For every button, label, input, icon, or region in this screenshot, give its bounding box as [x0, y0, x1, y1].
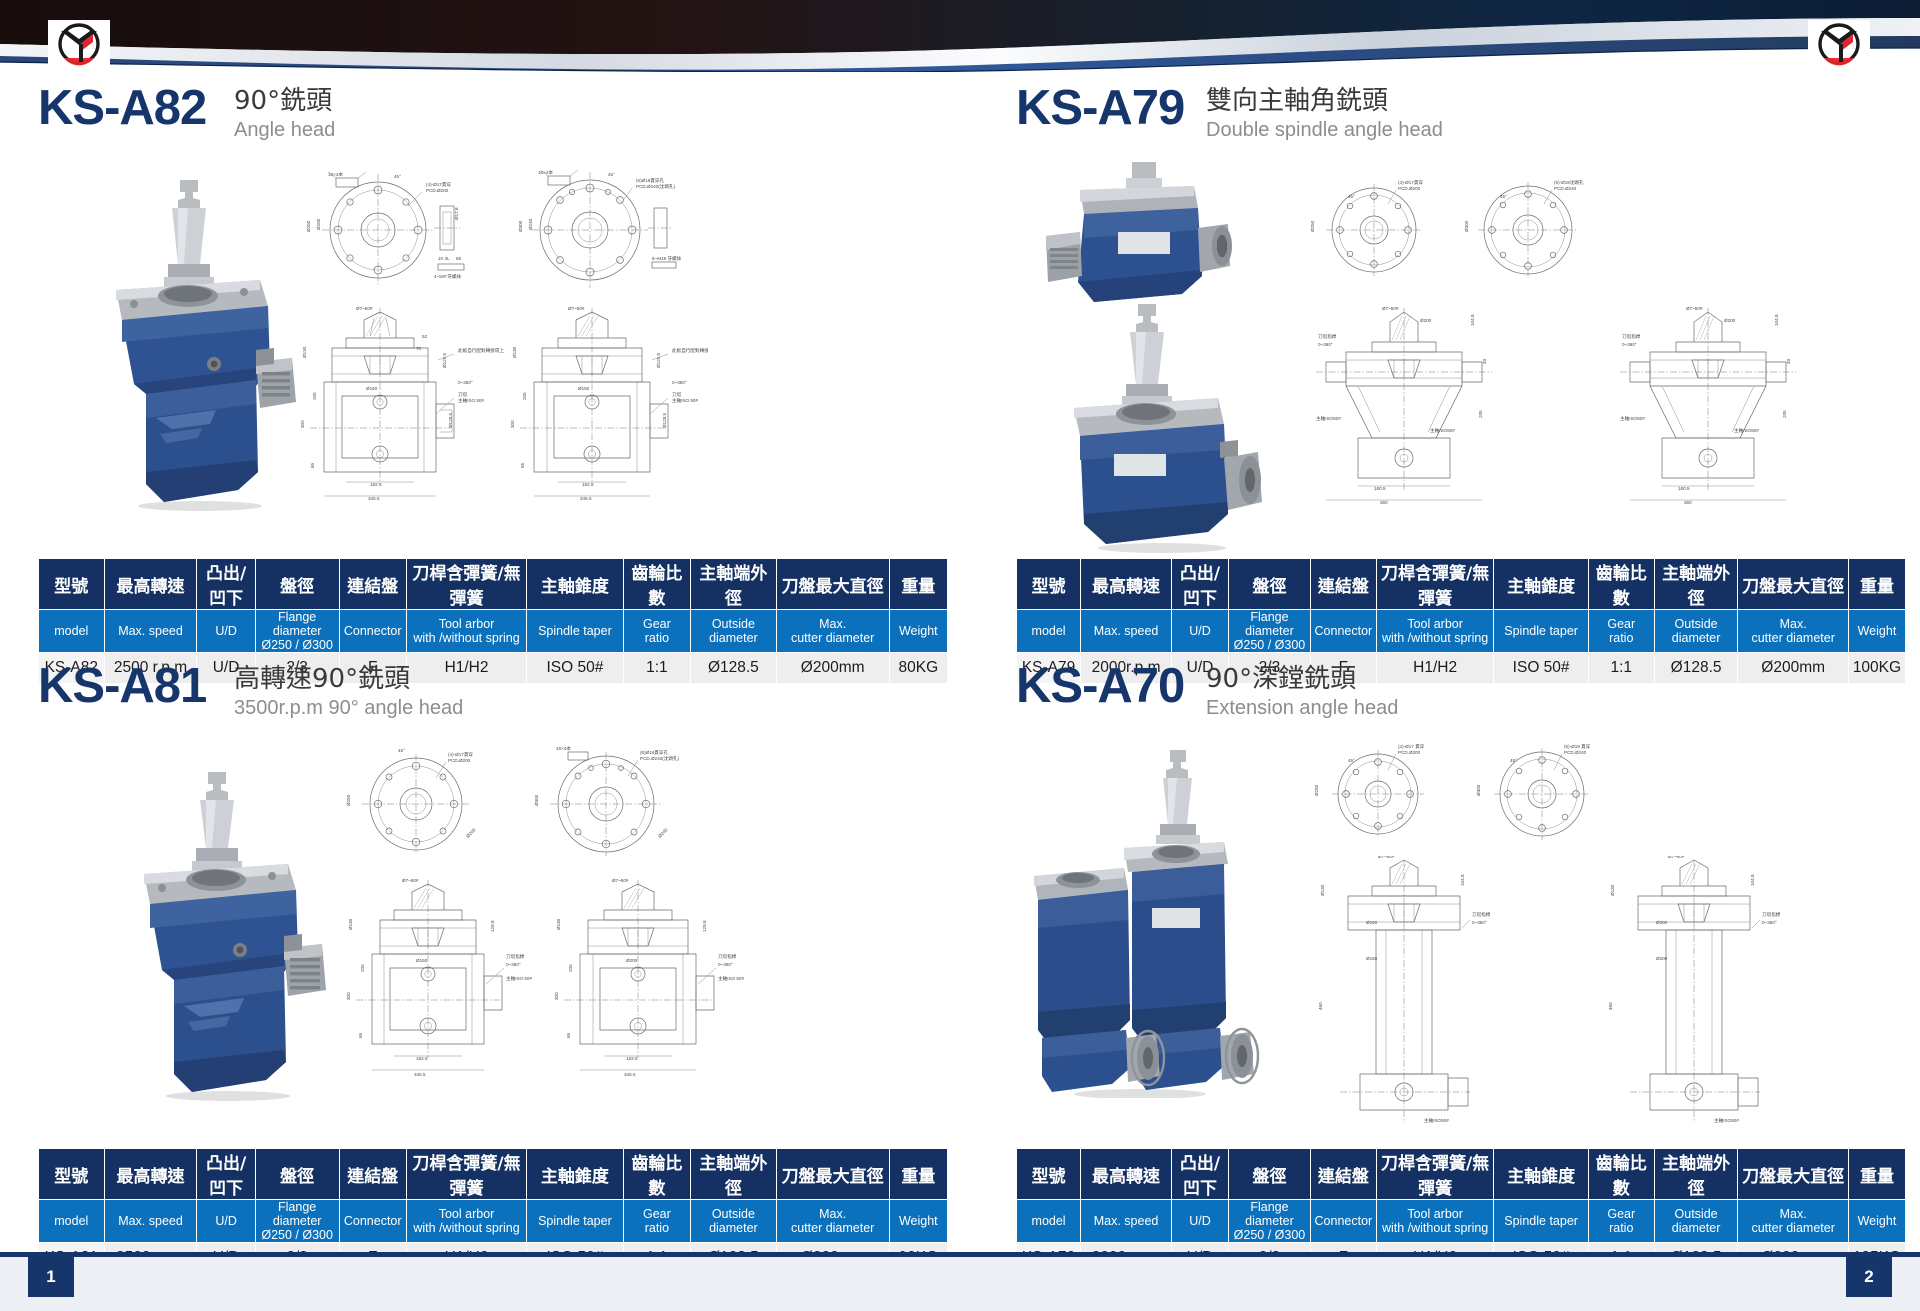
th-cn-ud: 凸出/凹下: [197, 559, 255, 610]
svg-text:104.8: 104.8: [1460, 874, 1465, 886]
svg-text:Ø130: Ø130: [1610, 884, 1615, 896]
th-en-model: model: [39, 610, 105, 653]
table-header-row-cn: 型號 最高轉速 凸出/凹下 盤徑 連結盤 刀桿含彈簧/無彈簧 主軸錐度 齒輪比數…: [39, 1149, 948, 1200]
th-cn-spindle-taper: 主軸錐度: [1494, 1149, 1588, 1200]
svg-text:Ø200: Ø200: [1656, 920, 1668, 925]
svg-text:主軸ISO50#: 主軸ISO50#: [1316, 415, 1341, 422]
product-block-ks-a82: KS-A82 90°銑頭 Angle head: [38, 82, 948, 642]
th-en-model: model: [1017, 1200, 1081, 1243]
svg-text:345.5: 345.5: [414, 1072, 426, 1077]
svg-text:Ø7~50#: Ø7~50#: [612, 878, 629, 883]
table-header-row-cn: 型號 最高轉速 凸出/凹下 盤徑 連結盤 刀桿含彈簧/無彈簧 主軸錐度 齒輪比數…: [39, 559, 948, 610]
svg-text:205: 205: [568, 964, 573, 972]
product-title-ks-a81: KS-A81 高轉速90°銑頭 3500r.p.m 90° angle head: [38, 660, 948, 732]
svg-text:4~5/8"牙螺絲: 4~5/8"牙螺絲: [434, 273, 461, 280]
svg-text:Ø130: Ø130: [1320, 884, 1325, 896]
svg-text:Ø300: Ø300: [1476, 784, 1481, 796]
th-cn-max-cutter: 刀盤最大直徑: [776, 1149, 889, 1200]
svg-text:Ø240: Ø240: [528, 218, 533, 230]
th-cn-spindle-taper: 主軸錐度: [527, 559, 624, 610]
th-cn-weight: 重量: [1848, 559, 1905, 610]
th-cn-flange: 盤徑: [255, 559, 339, 610]
technical-drawing-front-views: 45° (4)-Ø17貫穿 PCD.Ø200 Ø250 Ø200: [334, 740, 714, 872]
product-visuals-ks-a70: (4)-Ø17 貫穿 PCD.Ø200 Ø250 45°: [1016, 732, 1906, 1127]
table-header-row-en: model Max. speed U/D Flange diameterØ250…: [1017, 1200, 1906, 1243]
svg-text:104.8: 104.8: [1750, 874, 1755, 886]
svg-text:Ø150: Ø150: [416, 958, 428, 963]
th-cn-flange: 盤徑: [1228, 1149, 1310, 1200]
svg-text:(6)Ø19貫穿孔: (6)Ø19貫穿孔: [636, 177, 664, 184]
svg-text:Ø200: Ø200: [316, 218, 321, 230]
product-block-ks-a81: KS-A81 高轉速90°銑頭 3500r.p.m 90° angle head: [38, 660, 948, 1230]
svg-text:45°: 45°: [1348, 194, 1355, 199]
th-cn-connector: 連結盤: [1310, 559, 1376, 610]
svg-text:205: 205: [312, 392, 317, 400]
th-cn-weight: 重量: [889, 559, 947, 610]
svg-text:65: 65: [520, 462, 525, 468]
svg-text:300: 300: [300, 420, 305, 428]
product-name-en: Angle head: [234, 118, 335, 142]
svg-text:刀塔指標: 刀塔指標: [506, 953, 525, 960]
product-title-ks-a70: KS-A70 90°深鏜銑頭 Extension angle head: [1016, 660, 1906, 732]
th-en-outside-dia: Outsidediameter: [691, 610, 777, 653]
svg-text:0~360°: 0~360°: [1622, 342, 1637, 347]
th-cn-max-speed: 最高轉速: [104, 559, 197, 610]
svg-text:65: 65: [310, 462, 315, 468]
svg-text:45°: 45°: [1510, 758, 1517, 763]
th-en-ud: U/D: [1171, 1200, 1228, 1243]
table-header-row-en: model Max. speed U/D Flange diameterØ250…: [39, 1200, 948, 1243]
footer-rule: [0, 1252, 1920, 1257]
th-cn-max-speed: 最高轉速: [104, 1149, 197, 1200]
svg-text:300: 300: [554, 992, 559, 1000]
svg-text:33: 33: [1786, 358, 1791, 364]
svg-text:70: 70: [416, 346, 422, 351]
svg-text:45°: 45°: [394, 174, 401, 179]
product-title-ks-a79: KS-A79 雙向主軸角銑頭 Double spindle angle head: [1016, 82, 1906, 154]
svg-text:Ø250: Ø250: [1314, 784, 1319, 796]
svg-text:Ø7~50#: Ø7~50#: [1378, 856, 1395, 859]
th-cn-ud: 凸出/凹下: [197, 1149, 255, 1200]
svg-text:(6)-Ø19沈頭孔: (6)-Ø19沈頭孔: [1554, 179, 1584, 186]
svg-text:PCD.Ø240(沈頭孔): PCD.Ø240(沈頭孔): [636, 183, 676, 190]
th-en-outside-dia: Outsidediameter: [1654, 610, 1738, 653]
th-en-model: model: [39, 1200, 105, 1243]
th-cn-connector: 連結盤: [1310, 1149, 1376, 1200]
product-name-group: 90°銑頭 Angle head: [234, 86, 335, 142]
product-name-en: Extension angle head: [1206, 696, 1398, 720]
th-en-max-cutter: Max.cutter diameter: [776, 610, 889, 653]
svg-text:主軸ISO50#: 主軸ISO50#: [1430, 427, 1455, 434]
svg-text:主軸ISO50#: 主軸ISO50#: [1620, 415, 1645, 422]
product-name-group: 高轉速90°銑頭 3500r.p.m 90° angle head: [234, 664, 463, 720]
svg-text:0~360°: 0~360°: [718, 962, 733, 967]
th-en-gear-ratio: Gearratio: [1588, 610, 1654, 653]
svg-text:Ø128.5: Ø128.5: [656, 352, 661, 368]
th-en-tool-arbor: Tool arborwith /without spring: [1376, 610, 1494, 653]
svg-text:(4)-Ø17 貫穿: (4)-Ø17 貫穿: [1398, 743, 1425, 750]
th-en-ud: U/D: [197, 1200, 255, 1243]
svg-text:Ø200: Ø200: [465, 827, 477, 839]
technical-drawing-front-views: 16×4本 45° (4)-Ø17貫穿 PCD.Ø200 Ø250 Ø200 Ø…: [288, 164, 708, 299]
svg-text:Ø250: Ø250: [1310, 220, 1315, 232]
product-name-en: Double spindle angle head: [1206, 118, 1443, 142]
th-en-spindle-taper: Spindle taper: [1494, 610, 1588, 653]
svg-text:刀塔指標: 刀塔指標: [1622, 333, 1641, 340]
technical-drawing-section-views: Ø7~50# Ø150 Ø150 460 Ø130 104.8 刀塔指標 0~3…: [1306, 856, 1906, 1128]
svg-text:Ø7~50#: Ø7~50#: [356, 306, 373, 311]
table-header-row-en: model Max. speed U/D Flange diameterØ250…: [1017, 610, 1906, 653]
svg-text:345.5: 345.5: [624, 1072, 636, 1077]
svg-text:182.5: 182.5: [582, 482, 594, 487]
svg-text:52: 52: [422, 334, 428, 339]
svg-text:Ø200: Ø200: [626, 958, 638, 963]
svg-text:460: 460: [1608, 1002, 1613, 1010]
product-name-cn: 高轉速90°銑頭: [234, 664, 463, 695]
svg-text:45°: 45°: [1348, 758, 1355, 763]
svg-text:Ø150: Ø150: [1366, 920, 1378, 925]
svg-text:Ø7~50#: Ø7~50#: [568, 306, 585, 311]
svg-text:45°: 45°: [608, 172, 615, 177]
th-cn-max-cutter: 刀盤最大直徑: [1738, 559, 1848, 610]
th-cn-outside-dia: 主軸端外徑: [691, 1149, 777, 1200]
th-cn-model: 型號: [1017, 1149, 1081, 1200]
svg-text:0~360°: 0~360°: [1472, 920, 1487, 925]
svg-text:104.8: 104.8: [1470, 314, 1475, 326]
table-header-row-en: model Max. speed U/D Flange diameterØ250…: [39, 610, 948, 653]
th-en-connector: Connector: [339, 1200, 406, 1243]
th-en-weight: Weight: [1848, 610, 1905, 653]
svg-text:16×4本: 16×4本: [556, 745, 571, 752]
th-en-tool-arbor: Tool arborwith /without spring: [406, 610, 526, 653]
th-cn-weight: 重量: [1848, 1149, 1905, 1200]
svg-text:Ø200: Ø200: [1420, 318, 1432, 323]
th-cn-ud: 凸出/凹下: [1171, 559, 1228, 610]
th-cn-flange: 盤徑: [1228, 559, 1310, 610]
th-en-gear-ratio: Gearratio: [1588, 1200, 1654, 1243]
svg-text:Ø17.8: Ø17.8: [454, 207, 459, 220]
svg-text:主軸ISO 50#: 主軸ISO 50#: [718, 975, 744, 982]
product-block-ks-a70: KS-A70 90°深鏜銑頭 Extension angle head: [1016, 660, 1906, 1230]
svg-text:主軸ISO 50#: 主軸ISO 50#: [458, 397, 484, 404]
svg-text:PCD.Ø200: PCD.Ø200: [448, 758, 471, 763]
svg-text:主軸ISO50#: 主軸ISO50#: [1714, 1117, 1739, 1124]
product-name-cn: 90°銑頭: [234, 86, 335, 117]
th-en-flange: Flange diameterØ250 / Ø300: [255, 1200, 339, 1243]
th-cn-max-cutter: 刀盤最大直徑: [1738, 1149, 1848, 1200]
th-en-gear-ratio: Gearratio: [623, 610, 690, 653]
svg-text:345.5: 345.5: [368, 496, 380, 501]
svg-text:Ø150: Ø150: [366, 386, 378, 391]
svg-text:360: 360: [1684, 500, 1692, 505]
th-cn-connector: 連結盤: [339, 559, 406, 610]
table-header-row-cn: 型號 最高轉速 凸出/凹下 盤徑 連結盤 刀桿含彈簧/無彈簧 主軸錐度 齒輪比數…: [1017, 559, 1906, 610]
svg-text:Ø128.5: Ø128.5: [442, 352, 447, 368]
svg-text:刀塔指標: 刀塔指標: [1318, 333, 1337, 340]
svg-text:此板自行配對轉接環上: 此板自行配對轉接環上: [672, 347, 708, 354]
svg-text:Ø250: Ø250: [306, 220, 311, 232]
svg-text:刀塔指標: 刀塔指標: [1472, 911, 1491, 918]
svg-text:(4)-Ø17貫穿: (4)-Ø17貫穿: [1398, 179, 1423, 186]
th-en-max-cutter: Max.cutter diameter: [776, 1200, 889, 1243]
table-header-row-cn: 型號 最高轉速 凸出/凹下 盤徑 連結盤 刀桿含彈簧/無彈簧 主軸錐度 齒輪比數…: [1017, 1149, 1906, 1200]
svg-text:Ø300: Ø300: [518, 220, 523, 232]
th-en-ud: U/D: [197, 610, 255, 653]
svg-text:Ø250: Ø250: [346, 794, 351, 806]
svg-text:16×4本: 16×4本: [328, 171, 343, 178]
product-block-ks-a79: KS-A79 雙向主軸角銑頭 Double spindle angle head: [1016, 82, 1906, 642]
th-cn-model: 型號: [1017, 559, 1081, 610]
svg-text:45°: 45°: [1500, 194, 1507, 199]
th-en-tool-arbor: Tool arborwith /without spring: [406, 1200, 526, 1243]
technical-drawing-front-views: (4)-Ø17 貫穿 PCD.Ø200 Ø250 45°: [1306, 736, 1636, 854]
th-cn-tool-arbor: 刀桿含彈簧/無彈簧: [406, 1149, 526, 1200]
th-en-max-speed: Max. speed: [104, 1200, 197, 1243]
product-name-en: 3500r.p.m 90° angle head: [234, 696, 463, 720]
th-en-flange: Flange diameterØ250 / Ø300: [1228, 1200, 1310, 1243]
th-cn-spindle-taper: 主軸錐度: [1494, 559, 1588, 610]
svg-text:此板自行配對轉接環上: 此板自行配對轉接環上: [458, 347, 504, 354]
svg-text:10 3L: 10 3L: [438, 256, 450, 261]
th-en-max-speed: Max. speed: [1081, 1200, 1172, 1243]
svg-text:(6)Ø19貫穿孔: (6)Ø19貫穿孔: [640, 749, 668, 756]
svg-text:主軸ISO50#: 主軸ISO50#: [1424, 1117, 1449, 1124]
product-visuals-ks-a81: 45° (4)-Ø17貫穿 PCD.Ø200 Ø250 Ø200: [38, 732, 948, 1127]
th-en-tool-arbor: Tool arborwith /without spring: [1376, 1200, 1494, 1243]
th-cn-tool-arbor: 刀桿含彈簧/無彈簧: [1376, 1149, 1494, 1200]
svg-text:300: 300: [510, 420, 515, 428]
product-name-cn: 90°深鏜銑頭: [1206, 664, 1398, 695]
svg-text:205: 205: [1782, 410, 1787, 418]
svg-text:104.8: 104.8: [1774, 314, 1779, 326]
th-en-connector: Connector: [1310, 610, 1376, 653]
th-en-model: model: [1017, 610, 1081, 653]
svg-text:Ø130: Ø130: [302, 346, 307, 358]
th-en-max-speed: Max. speed: [104, 610, 197, 653]
svg-text:PCD.Ø240: PCD.Ø240: [1554, 186, 1577, 191]
product-title-ks-a82: KS-A82 90°銑頭 Angle head: [38, 82, 948, 154]
th-en-connector: Connector: [1310, 1200, 1376, 1243]
th-cn-max-speed: 最高轉速: [1081, 1149, 1172, 1200]
svg-text:205: 205: [360, 964, 365, 972]
svg-text:0~360°: 0~360°: [1318, 342, 1333, 347]
th-en-spindle-taper: Spindle taper: [527, 1200, 624, 1243]
th-cn-ud: 凸出/凹下: [1171, 1149, 1228, 1200]
svg-text:205: 205: [1478, 410, 1483, 418]
th-cn-max-cutter: 刀盤最大直徑: [776, 559, 889, 610]
product-visuals-ks-a82: 16×4本 45° (4)-Ø17貫穿 PCD.Ø200 Ø250 Ø200 Ø…: [38, 154, 948, 534]
svg-text:0~360°: 0~360°: [506, 962, 521, 967]
svg-text:182.5: 182.5: [370, 482, 382, 487]
th-cn-connector: 連結盤: [339, 1149, 406, 1200]
svg-text:(4)-Ø17貫穿: (4)-Ø17貫穿: [426, 181, 451, 188]
svg-text:PCD.Ø240: PCD.Ø240: [1564, 750, 1587, 755]
svg-text:65: 65: [358, 1032, 363, 1038]
th-cn-flange: 盤徑: [255, 1149, 339, 1200]
product-photo: [1020, 748, 1270, 1098]
th-cn-outside-dia: 主軸端外徑: [1654, 559, 1738, 610]
svg-text:205: 205: [522, 392, 527, 400]
th-cn-weight: 重量: [889, 1149, 947, 1200]
th-en-connector: Connector: [339, 610, 406, 653]
th-cn-tool-arbor: 刀桿含彈簧/無彈簧: [406, 559, 526, 610]
svg-text:PCD.Ø200: PCD.Ø200: [1398, 186, 1421, 191]
th-en-flange: Flange diameterØ250 / Ø300: [1228, 610, 1310, 653]
th-cn-tool-arbor: 刀桿含彈簧/無彈簧: [1376, 559, 1494, 610]
svg-text:Ø200: Ø200: [1656, 956, 1668, 961]
product-photo: [60, 172, 310, 512]
th-en-weight: Weight: [889, 1200, 947, 1243]
svg-text:0~360°: 0~360°: [458, 380, 473, 385]
svg-text:345.5: 345.5: [580, 496, 592, 501]
svg-text:180.5: 180.5: [1374, 486, 1386, 491]
svg-text:PCD.Ø200: PCD.Ø200: [1398, 750, 1421, 755]
svg-text:Ø300: Ø300: [1464, 220, 1469, 232]
svg-text:0~360°: 0~360°: [672, 380, 687, 385]
svg-text:Ø130: Ø130: [512, 346, 517, 358]
svg-text:Ø128.5: Ø128.5: [448, 412, 453, 428]
th-cn-outside-dia: 主軸端外徑: [691, 559, 777, 610]
svg-text:Ø130: Ø130: [348, 918, 353, 930]
svg-text:主軸ISO 50#: 主軸ISO 50#: [672, 397, 698, 404]
svg-text:(4)-Ø17貫穿: (4)-Ø17貫穿: [448, 751, 473, 758]
technical-drawing-front-views: (4)-Ø17貫穿 PCD.Ø200 Ø250 45°: [1302, 172, 1602, 297]
svg-text:刀塔指標: 刀塔指標: [718, 953, 737, 960]
svg-text:6~M18 牙螺絲: 6~M18 牙螺絲: [652, 255, 682, 262]
svg-text:182.5: 182.5: [626, 1056, 638, 1061]
page-number-left: 1: [28, 1257, 74, 1297]
svg-text:刀塔指標: 刀塔指標: [1762, 911, 1781, 918]
svg-text:刀塔: 刀塔: [672, 391, 682, 398]
svg-text:Ø130: Ø130: [556, 918, 561, 930]
svg-text:Ø200: Ø200: [1724, 318, 1736, 323]
page-number-right: 2: [1846, 1257, 1892, 1297]
svg-text:Ø128.5: Ø128.5: [662, 412, 667, 428]
technical-drawing-section-views: Ø7~50# Ø200 104.8 33 205 刀塔指標 0~360° 主軸I…: [1302, 304, 1912, 509]
th-en-max-cutter: Max.cutter diameter: [1738, 610, 1848, 653]
svg-text:刀塔: 刀塔: [458, 391, 468, 398]
product-photo: [88, 764, 338, 1104]
th-en-max-cutter: Max.cutter diameter: [1738, 1200, 1848, 1243]
svg-text:主軸ISO 50#: 主軸ISO 50#: [506, 975, 532, 982]
th-cn-gear-ratio: 齒輪比數: [1588, 1149, 1654, 1200]
th-en-gear-ratio: Gearratio: [623, 1200, 690, 1243]
th-en-spindle-taper: Spindle taper: [527, 610, 624, 653]
svg-text:Ø150: Ø150: [578, 386, 590, 391]
product-photo: [1022, 158, 1292, 558]
th-cn-model: 型號: [39, 559, 105, 610]
technical-drawing-section-views: Ø7~50# Ø130 300 65 205 128.8 Ø150 182.5 …: [334, 874, 754, 1084]
svg-text:128.8: 128.8: [490, 920, 495, 932]
svg-text:Ø7~50#: Ø7~50#: [1668, 856, 1685, 859]
th-en-weight: Weight: [1848, 1200, 1905, 1243]
th-en-weight: Weight: [889, 610, 947, 653]
brand-logo-right: [1808, 20, 1870, 66]
svg-text:主軸ISO50#: 主軸ISO50#: [1734, 427, 1759, 434]
svg-text:65: 65: [566, 1032, 571, 1038]
svg-text:360: 360: [1380, 500, 1388, 505]
svg-text:460: 460: [1318, 1002, 1323, 1010]
product-code: KS-A82: [38, 84, 206, 133]
product-code: KS-A81: [38, 662, 206, 711]
th-en-outside-dia: Outsidediameter: [691, 1200, 777, 1243]
th-cn-gear-ratio: 齒輪比數: [623, 1149, 690, 1200]
svg-text:Ø7~50#: Ø7~50#: [402, 878, 419, 883]
brand-logo-left: [48, 20, 110, 66]
th-en-ud: U/D: [1171, 610, 1228, 653]
product-code: KS-A79: [1016, 84, 1184, 133]
svg-text:Ø7~50#: Ø7~50#: [1686, 306, 1703, 311]
svg-text:182.5: 182.5: [416, 1056, 428, 1061]
catalog-page-body: KS-A82 90°銑頭 Angle head: [0, 72, 1920, 1252]
svg-text:33: 33: [1482, 358, 1487, 364]
th-en-flange: Flange diameterØ250 / Ø300: [255, 610, 339, 653]
svg-text:Ø7~50#: Ø7~50#: [1382, 306, 1399, 311]
page-banner: [0, 0, 1920, 72]
th-en-spindle-taper: Spindle taper: [1494, 1200, 1588, 1243]
svg-text:(6)-Ø19 貫穿: (6)-Ø19 貫穿: [1564, 743, 1591, 750]
th-en-outside-dia: Outsidediameter: [1654, 1200, 1738, 1243]
svg-text:45°: 45°: [398, 748, 405, 753]
th-cn-gear-ratio: 齒輪比數: [1588, 559, 1654, 610]
svg-text:Ø300: Ø300: [534, 794, 539, 806]
product-name-group: 90°深鏜銑頭 Extension angle head: [1206, 664, 1398, 720]
svg-text:0~360°: 0~360°: [1762, 920, 1777, 925]
svg-text:180.5: 180.5: [1678, 486, 1690, 491]
svg-text:PCD.Ø240(沈頭孔): PCD.Ø240(沈頭孔): [640, 755, 680, 762]
th-cn-spindle-taper: 主軸錐度: [527, 1149, 624, 1200]
product-name-group: 雙向主軸角銑頭 Double spindle angle head: [1206, 86, 1443, 142]
th-cn-outside-dia: 主軸端外徑: [1654, 1149, 1738, 1200]
svg-text:16×4本: 16×4本: [538, 169, 553, 176]
product-name-cn: 雙向主軸角銑頭: [1206, 86, 1443, 117]
product-code: KS-A70: [1016, 662, 1184, 711]
product-visuals-ks-a79: (4)-Ø17貫穿 PCD.Ø200 Ø250 45°: [1016, 154, 1906, 534]
technical-drawing-section-views: Ø7~50# Ø130 300 65 205 Ø128.5 Ø128.5 52 …: [288, 302, 708, 514]
svg-text:66: 66: [456, 256, 462, 261]
svg-text:128.8: 128.8: [702, 920, 707, 932]
page-footer: 1 2: [0, 1252, 1920, 1311]
svg-text:300: 300: [346, 992, 351, 1000]
th-en-max-speed: Max. speed: [1081, 610, 1172, 653]
th-cn-model: 型號: [39, 1149, 105, 1200]
th-cn-gear-ratio: 齒輪比數: [623, 559, 690, 610]
svg-text:PCD.Ø200: PCD.Ø200: [426, 188, 449, 193]
svg-text:Ø150: Ø150: [1366, 956, 1378, 961]
svg-text:Ø240: Ø240: [657, 827, 669, 839]
th-cn-max-speed: 最高轉速: [1081, 559, 1172, 610]
